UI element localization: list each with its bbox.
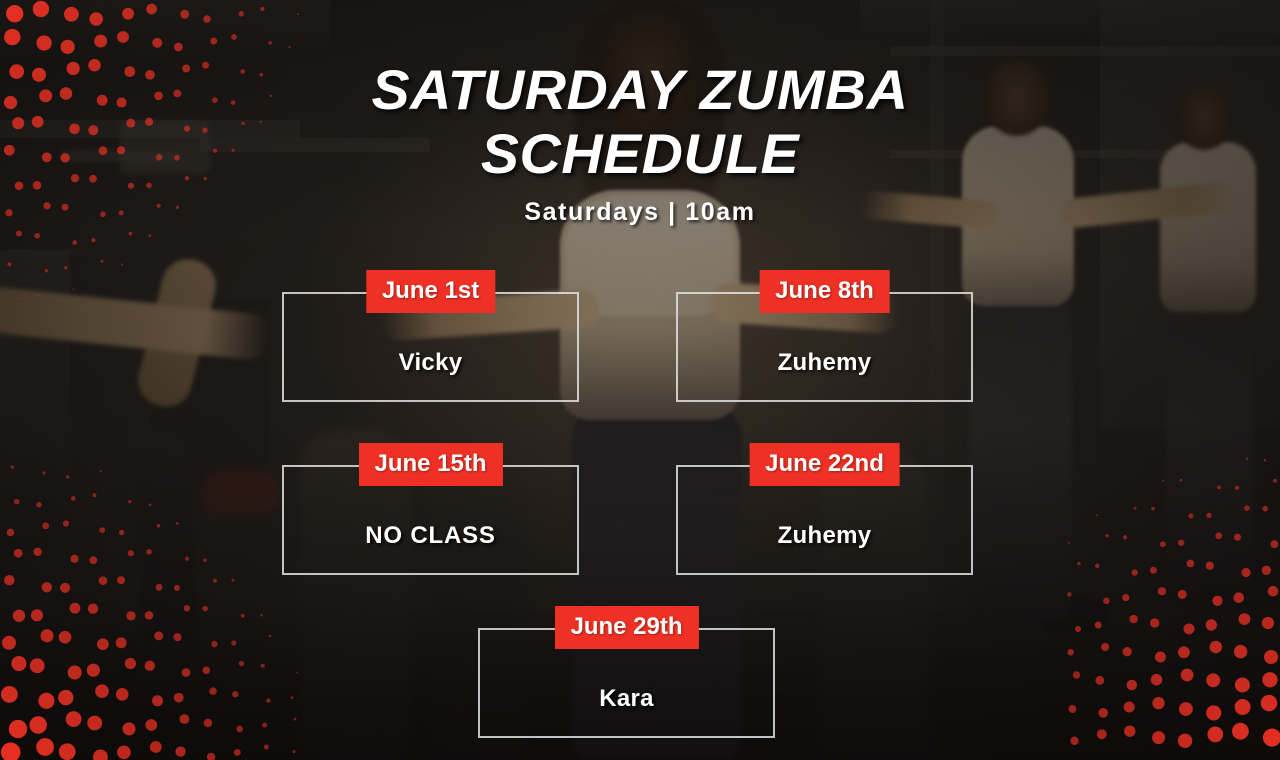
card-date-badge: June 22nd [749, 443, 900, 486]
card-instructor-name: Zuhemy [676, 522, 973, 550]
page-title: SATURDAY ZUMBA SCHEDULE [0, 58, 1280, 186]
card-instructor-name: Zuhemy [676, 349, 973, 377]
schedule-card: June 8th Zuhemy [676, 292, 973, 402]
card-instructor-name: Kara [478, 685, 775, 713]
title-block: SATURDAY ZUMBA SCHEDULE Saturdays | 10am [0, 58, 1280, 227]
title-line-1: SATURDAY ZUMBA [371, 58, 908, 121]
zumba-schedule-poster: SATURDAY ZUMBA SCHEDULE Saturdays | 10am… [0, 0, 1280, 760]
title-line-2: SCHEDULE [0, 122, 1280, 186]
schedule-card: June 22nd Zuhemy [676, 465, 973, 575]
card-instructor-name: NO CLASS [282, 522, 579, 550]
card-date-badge: June 8th [759, 270, 890, 313]
card-instructor-name: Vicky [282, 349, 579, 377]
schedule-card: June 15th NO CLASS [282, 465, 579, 575]
card-date-badge: June 29th [554, 606, 698, 649]
card-date-badge: June 15th [358, 443, 502, 486]
card-date-badge: June 1st [366, 270, 495, 313]
page-subtitle: Saturdays | 10am [0, 198, 1280, 227]
schedule-card: June 29th Kara [478, 628, 775, 738]
poster-content: SATURDAY ZUMBA SCHEDULE Saturdays | 10am… [0, 0, 1280, 760]
schedule-card: June 1st Vicky [282, 292, 579, 402]
